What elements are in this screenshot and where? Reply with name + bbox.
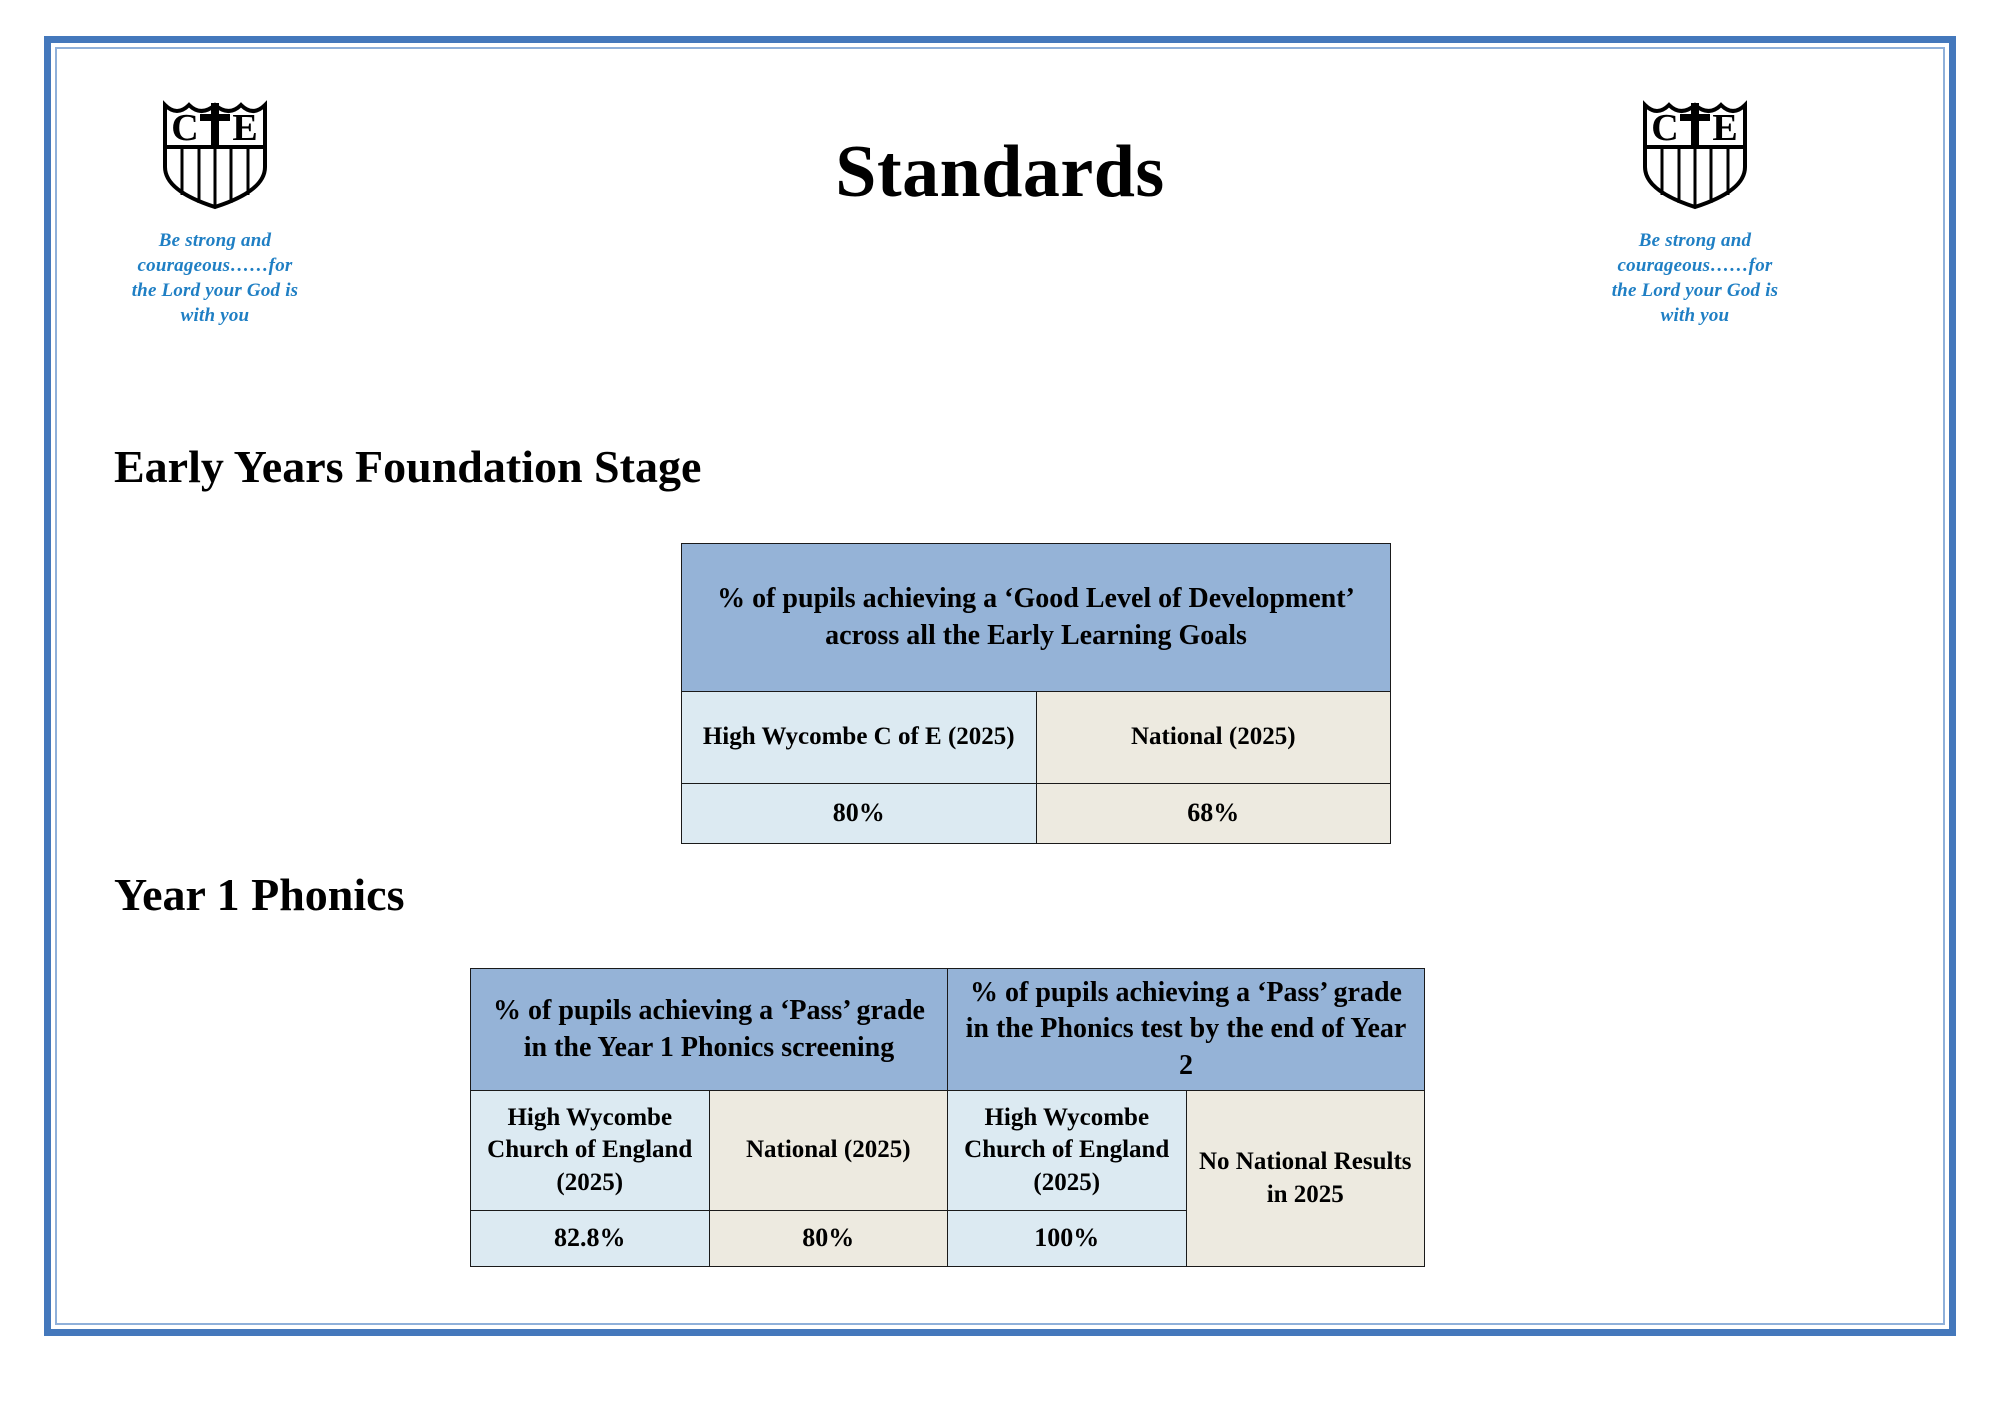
motto-line-2: courageous……for [120, 253, 310, 278]
motto-line-3: the Lord your God is [120, 278, 310, 303]
eyfs-value-national: 68% [1036, 784, 1391, 844]
phonics-value-school-y1: 82.8% [471, 1211, 710, 1267]
phonics-no-national-results-note: No National Results in 2025 [1186, 1091, 1425, 1267]
motto-line-1: Be strong and [1600, 228, 1790, 253]
phonics-subheader-school-y2: High Wycombe Church of England (2025) [948, 1091, 1187, 1211]
table-row-subheader: High Wycombe C of E (2025) National (202… [682, 692, 1391, 784]
phonics-results-table: % of pupils achieving a ‘Pass’ grade in … [470, 968, 1425, 1267]
phonics-table-header-year1: % of pupils achieving a ‘Pass’ grade in … [471, 969, 948, 1091]
table-row-values: 80% 68% [682, 784, 1391, 844]
motto-line-3: the Lord your God is [1600, 278, 1790, 303]
phonics-subheader-school-y1: High Wycombe Church of England (2025) [471, 1091, 710, 1211]
page-title: Standards [0, 130, 2000, 215]
eyfs-results-table: % of pupils achieving a ‘Good Level of D… [681, 543, 1391, 844]
section-heading-phonics: Year 1 Phonics [114, 868, 405, 921]
eyfs-subheader-school: High Wycombe C of E (2025) [682, 692, 1037, 784]
eyfs-table-header: % of pupils achieving a ‘Good Level of D… [682, 544, 1391, 692]
motto-line-4: with you [1600, 303, 1790, 328]
school-motto-right: Be strong and courageous……for the Lord y… [1600, 228, 1790, 328]
phonics-value-national-y1: 80% [709, 1211, 948, 1267]
section-heading-eyfs: Early Years Foundation Stage [114, 440, 701, 493]
table-row-subheader: High Wycombe Church of England (2025) Na… [471, 1091, 1425, 1211]
table-row-header: % of pupils achieving a ‘Pass’ grade in … [471, 969, 1425, 1091]
phonics-subheader-national-y1: National (2025) [709, 1091, 948, 1211]
eyfs-value-school: 80% [682, 784, 1037, 844]
motto-line-1: Be strong and [120, 228, 310, 253]
eyfs-subheader-national: National (2025) [1036, 692, 1391, 784]
motto-line-2: courageous……for [1600, 253, 1790, 278]
motto-line-4: with you [120, 303, 310, 328]
table-row-header: % of pupils achieving a ‘Good Level of D… [682, 544, 1391, 692]
phonics-table-header-year2: % of pupils achieving a ‘Pass’ grade in … [948, 969, 1425, 1091]
phonics-value-school-y2: 100% [948, 1211, 1187, 1267]
school-motto-left: Be strong and courageous……for the Lord y… [120, 228, 310, 328]
